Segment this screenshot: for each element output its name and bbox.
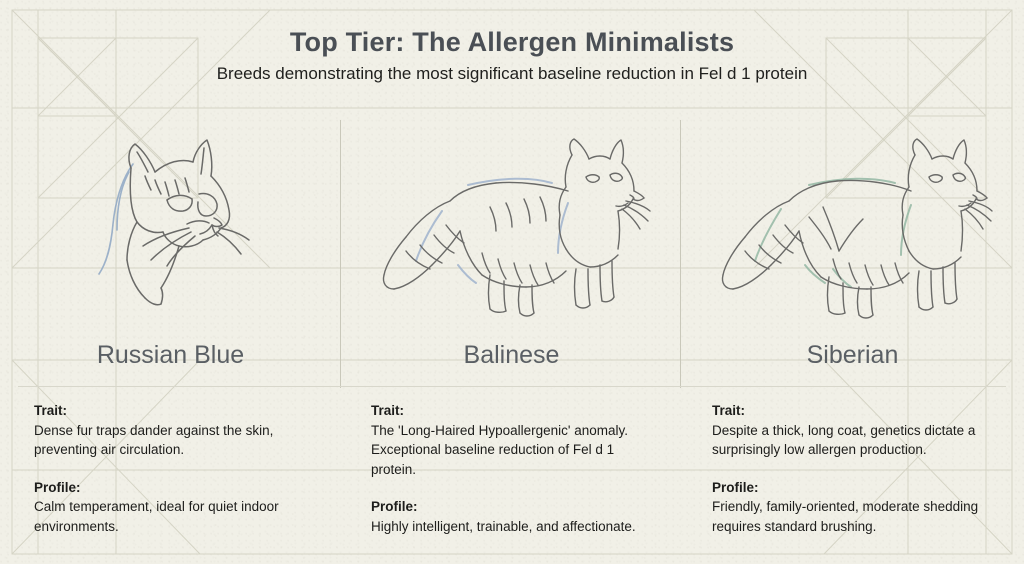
profile-field: Profile: Friendly, family-oriented, mode…	[712, 478, 1003, 537]
trait-text: The 'Long-Haired Hypoallergenic' anomaly…	[371, 421, 662, 480]
longhair-cat-sketch-green-icon	[698, 120, 1007, 335]
profile-label: Profile:	[712, 478, 1003, 498]
profile-label: Profile:	[371, 497, 662, 517]
breed-column-russian-blue: Russian Blue Trait: Dense fur traps dand…	[0, 120, 341, 536]
breed-column-balinese: Balinese Trait: The 'Long-Haired Hypoall…	[341, 120, 682, 536]
header: Top Tier: The Allergen Minimalists Breed…	[0, 0, 1024, 84]
breed-name: Russian Blue	[16, 335, 325, 375]
breed-details: Trait: The 'Long-Haired Hypoallergenic' …	[357, 375, 666, 536]
trait-field: Trait: The 'Long-Haired Hypoallergenic' …	[371, 401, 662, 479]
breed-name: Balinese	[357, 335, 666, 375]
trait-text: Dense fur traps dander against the skin,…	[34, 421, 321, 460]
profile-field: Profile: Calm temperament, ideal for qui…	[34, 478, 321, 537]
profile-text: Friendly, family-oriented, moderate shed…	[712, 497, 1003, 536]
profile-field: Profile: Highly intelligent, trainable, …	[371, 497, 662, 536]
breed-column-siberian: Siberian Trait: Despite a thick, long co…	[682, 120, 1023, 536]
profile-label: Profile:	[34, 478, 321, 498]
breed-name: Siberian	[698, 335, 1007, 375]
trait-label: Trait:	[34, 401, 321, 421]
breed-columns: Russian Blue Trait: Dense fur traps dand…	[0, 120, 1024, 536]
trait-label: Trait:	[712, 401, 1003, 421]
infographic-page: Top Tier: The Allergen Minimalists Breed…	[0, 0, 1024, 564]
trait-text: Despite a thick, long coat, genetics dic…	[712, 421, 1003, 460]
cat-head-sketch-icon	[16, 120, 325, 335]
breed-details: Trait: Despite a thick, long coat, genet…	[698, 375, 1007, 536]
profile-text: Calm temperament, ideal for quiet indoor…	[34, 497, 321, 536]
breed-details: Trait: Dense fur traps dander against th…	[16, 375, 325, 536]
trait-field: Trait: Despite a thick, long coat, genet…	[712, 401, 1003, 460]
page-subtitle: Breeds demonstrating the most significan…	[0, 64, 1024, 84]
longhair-cat-sketch-icon	[357, 120, 666, 335]
trait-field: Trait: Dense fur traps dander against th…	[34, 401, 321, 460]
trait-label: Trait:	[371, 401, 662, 421]
page-title: Top Tier: The Allergen Minimalists	[0, 27, 1024, 58]
profile-text: Highly intelligent, trainable, and affec…	[371, 517, 662, 537]
